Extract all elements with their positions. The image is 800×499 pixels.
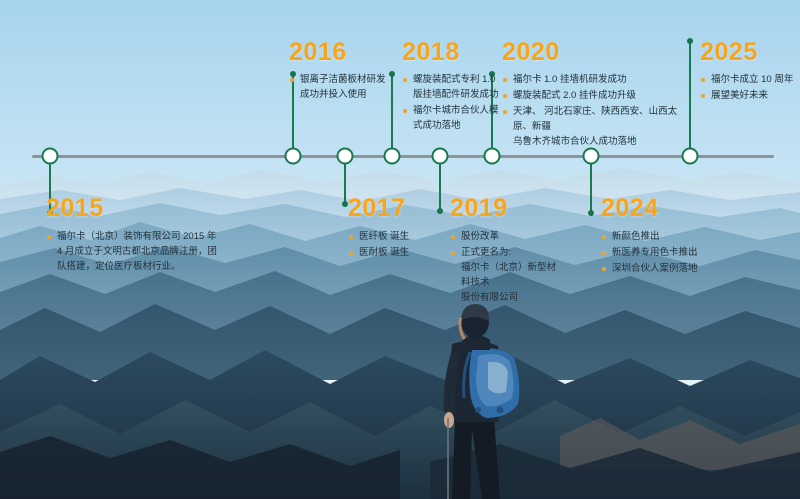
timeline-bullet: 福尔卡（北京）装饰有限公司 2015 年 4 月成立于文明古都北京品牌注册，团 … bbox=[46, 229, 228, 274]
timeline-entry-2020: 2020福尔卡 1.0 挂墙机研发成功螺旋装配式 2.0 挂件成功升级天津、 河… bbox=[502, 40, 692, 150]
timeline-bullet: 展望美好未来 bbox=[700, 88, 800, 103]
timeline-node-2015[interactable] bbox=[42, 148, 59, 165]
timeline-bullet: 深圳合伙人案例落地 bbox=[601, 261, 731, 276]
timeline-infographic: 2015福尔卡（北京）装饰有限公司 2015 年 4 月成立于文明古都北京品牌注… bbox=[0, 0, 800, 499]
timeline-bullet-list-2024: 新颜色推出新医养专用色卡推出深圳合伙人案例落地 bbox=[601, 229, 731, 276]
timeline-bullet-list-2020: 福尔卡 1.0 挂墙机研发成功螺旋装配式 2.0 挂件成功升级天津、 河北石家庄… bbox=[502, 72, 692, 149]
timeline-bullet: 正式更名为: 福尔卡（北京）新型材料技术 股份有限公司 bbox=[450, 245, 560, 305]
timeline-stem-dot-2024 bbox=[588, 210, 594, 216]
timeline-entry-2018: 2018螺旋装配式专利 1.0 版挂墙配件研发成功福尔卡城市合伙人模 式成功落地 bbox=[402, 40, 506, 134]
timeline-node-2019[interactable] bbox=[432, 148, 449, 165]
timeline-node-2017[interactable] bbox=[337, 148, 354, 165]
timeline-bullet: 医耐板 诞生 bbox=[348, 245, 448, 260]
timeline-entry-2024: 2024新颜色推出新医养专用色卡推出深圳合伙人案例落地 bbox=[601, 196, 731, 277]
timeline-year-label-2015: 2015 bbox=[46, 196, 228, 221]
timeline-bullet: 福尔卡成立 10 周年 bbox=[700, 72, 800, 87]
timeline-bullet-list-2018: 螺旋装配式专利 1.0 版挂墙配件研发成功福尔卡城市合伙人模 式成功落地 bbox=[402, 72, 506, 133]
timeline-node-2025[interactable] bbox=[682, 148, 699, 165]
timeline-year-label-2018: 2018 bbox=[402, 40, 506, 65]
timeline-entry-2015: 2015福尔卡（北京）装饰有限公司 2015 年 4 月成立于文明古都北京品牌注… bbox=[46, 196, 228, 275]
timeline-stem-2024 bbox=[590, 156, 592, 213]
timeline-bullet-list-2019: 股份改革正式更名为: 福尔卡（北京）新型材料技术 股份有限公司 bbox=[450, 229, 560, 305]
timeline-bullet: 股份改革 bbox=[450, 229, 560, 244]
timeline-year-label-2025: 2025 bbox=[700, 40, 800, 65]
timeline-node-2024[interactable] bbox=[583, 148, 600, 165]
timeline-year-label-2024: 2024 bbox=[601, 196, 731, 221]
timeline-bullet: 福尔卡 1.0 挂墙机研发成功 bbox=[502, 72, 692, 87]
timeline-axis bbox=[32, 155, 774, 158]
timeline-year-label-2019: 2019 bbox=[450, 196, 560, 221]
timeline-bullet: 螺旋装配式 2.0 挂件成功升级 bbox=[502, 88, 692, 103]
timeline-node-2020[interactable] bbox=[484, 148, 501, 165]
timeline-entry-2016: 2016银离子洁菌板材研发 成功并投入使用 bbox=[289, 40, 397, 103]
timeline-node-2016[interactable] bbox=[285, 148, 302, 165]
timeline-bullet-list-2015: 福尔卡（北京）装饰有限公司 2015 年 4 月成立于文明古都北京品牌注册，团 … bbox=[46, 229, 228, 274]
timeline-bullet-list-2017: 医纤板 诞生医耐板 诞生 bbox=[348, 229, 448, 260]
timeline-entry-2017: 2017医纤板 诞生医耐板 诞生 bbox=[348, 196, 448, 261]
timeline-node-2018[interactable] bbox=[384, 148, 401, 165]
timeline-bullet: 新医养专用色卡推出 bbox=[601, 245, 731, 260]
timeline-bullet-list-2016: 银离子洁菌板材研发 成功并投入使用 bbox=[289, 72, 397, 102]
timeline-bullet: 银离子洁菌板材研发 成功并投入使用 bbox=[289, 72, 397, 102]
timeline-bullet: 医纤板 诞生 bbox=[348, 229, 448, 244]
timeline-year-label-2016: 2016 bbox=[289, 40, 397, 65]
timeline-entry-2025: 2025福尔卡成立 10 周年展望美好未来 bbox=[700, 40, 800, 104]
timeline-bullet: 新颜色推出 bbox=[601, 229, 731, 244]
timeline-entry-2019: 2019股份改革正式更名为: 福尔卡（北京）新型材料技术 股份有限公司 bbox=[450, 196, 560, 306]
timeline-bullet-list-2025: 福尔卡成立 10 周年展望美好未来 bbox=[700, 72, 800, 103]
timeline-bullet: 福尔卡城市合伙人模 式成功落地 bbox=[402, 103, 506, 133]
timeline-year-label-2020: 2020 bbox=[502, 40, 692, 65]
timeline-year-label-2017: 2017 bbox=[348, 196, 448, 221]
timeline-bullet: 天津、 河北石家庄、陕西西安、山西太原、新疆 乌鲁木齐城市合伙人成功落地 bbox=[502, 104, 692, 149]
timeline-bullet: 螺旋装配式专利 1.0 版挂墙配件研发成功 bbox=[402, 72, 506, 102]
